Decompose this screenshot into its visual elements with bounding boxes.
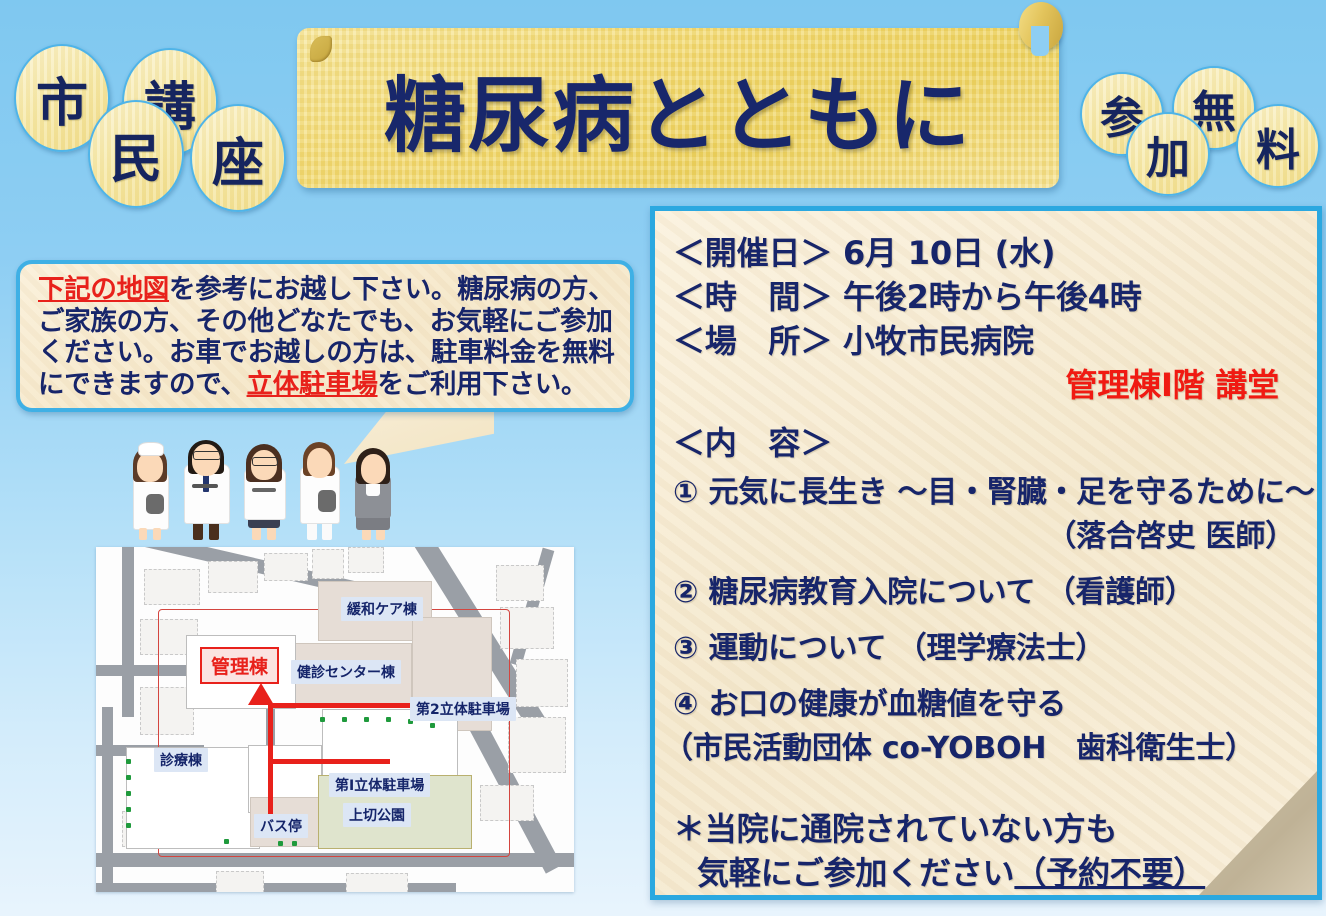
nurse-leg-r (153, 528, 161, 540)
notice-line-4-pre: にできますので、 (38, 369, 247, 400)
woman-head (361, 454, 386, 484)
fdoc-leg-r (267, 526, 276, 540)
map-plot-e1 (516, 659, 568, 707)
info-item-4-speaker: （市民活動団体 co-YOBOH 歯科衛生士） (663, 727, 1317, 771)
info-date-label: ＜開催日＞ (673, 234, 832, 272)
staff-figure-doctor (180, 424, 232, 540)
notice-line-2: ご家族の方、その他どなたでも、お気軽にご参加 (38, 306, 616, 338)
badge-ryo: 料 (1236, 104, 1320, 188)
notice-highlight-parking: 立体駐車場 (247, 369, 378, 400)
map-tree-dot (126, 823, 131, 828)
notice-speech-bubble: 下記の地図を参考にお越し下さい。糖尿病の方、 ご家族の方、その他どなたでも、お気… (16, 260, 634, 412)
nurse-cap-icon (138, 442, 164, 456)
info-content-label: ＜内 容＞ (673, 421, 1317, 465)
map-plot-nw3 (264, 553, 308, 581)
map-plot-e2 (508, 717, 566, 773)
staff-figure-female-doctor (240, 430, 288, 540)
doctor-head (192, 444, 220, 476)
map-tree-dot (292, 841, 297, 846)
map-label-park: 上切公園 (343, 803, 411, 827)
map-tree-dot (126, 759, 131, 764)
badge-za: 座 (190, 104, 286, 212)
info-item-1-speaker: （落合啓史 医師） (673, 515, 1317, 559)
info-date-value: 6月 10日 (水) (843, 234, 1055, 272)
map-plot-n1 (312, 549, 344, 579)
info-time-value: 午後2時から午後4時 (843, 278, 1142, 316)
nurse-leg-l (139, 528, 147, 540)
map-tree-dot (430, 723, 435, 728)
map-road-left-v (122, 547, 134, 717)
map-label-kanri: 管理棟 (200, 647, 279, 684)
info-time-label: ＜時 間＞ (673, 278, 832, 316)
fdoc-glasses-icon (252, 457, 278, 466)
map-tree-dot (320, 717, 325, 722)
nurse-clipboard (146, 494, 164, 514)
fdoc-stethoscope-icon (252, 488, 276, 492)
map-label-shinryo: 診療棟 (154, 748, 208, 772)
map-tree-dot (224, 839, 229, 844)
map-tree-dot (342, 717, 347, 722)
map-tree-dot (126, 775, 131, 780)
notice-line-1: 下記の地図を参考にお越し下さい。糖尿病の方、 (38, 274, 616, 306)
event-info-panel: ＜開催日＞ 6月 10日 (水) ＜時 間＞ 午後2時から午後4時 ＜場 所＞ … (650, 206, 1322, 900)
map-plot-ne1 (496, 565, 544, 601)
map-tree-dot (364, 717, 369, 722)
info-note-line-2-text: 気軽にご参加ください (697, 854, 1014, 892)
map-plot-nw2 (208, 561, 258, 593)
map-tree-dot (126, 807, 131, 812)
info-date-row: ＜開催日＞ 6月 10日 (水) (673, 231, 1317, 275)
info-item-4: ④ お口の健康が血糖値を守る (673, 683, 1317, 727)
map-label-busstop: バス停 (254, 814, 308, 838)
poster-canvas: 糖尿病とともに 市 講 民 座 参 無 加 料 下記の地図を参考にお越し下さい。… (0, 0, 1326, 916)
hospital-location-map[interactable]: 緩和ケア棟 健診センター棟 管理棟 第2立体駐車場 診療棟 第Ⅰ立体駐車場 バス… (96, 547, 574, 892)
map-plot-n2 (348, 547, 384, 573)
mnurse-clipboard (318, 490, 336, 512)
staff-figure-staff-woman (350, 434, 396, 540)
doctor-glasses-icon (193, 451, 221, 460)
info-note-no-reservation: （予約不要） (1014, 854, 1205, 892)
info-place-value: 小牧市民病院 (843, 322, 1034, 360)
map-plot-nw1 (144, 569, 200, 605)
notice-line-4-post: をご利用下さい。 (378, 369, 588, 400)
map-label-kenshin: 健診センター棟 (291, 660, 401, 684)
map-label-parking1: 第Ⅰ立体駐車場 (329, 773, 430, 797)
badge-min: 民 (88, 100, 184, 208)
notice-line-4: にできますので、立体駐車場をご利用下さい。 (38, 369, 616, 401)
info-place-row: ＜場 所＞ 小牧市民病院 (673, 319, 1317, 363)
info-place-detail: 管理棟Ⅰ階 講堂 (673, 363, 1317, 407)
notice-highlight-map: 下記の地図 (38, 274, 169, 305)
map-plot-s1 (216, 871, 264, 892)
map-plot-s2 (346, 873, 408, 892)
medical-staff-illustration (128, 420, 368, 540)
info-place-label: ＜場 所＞ (673, 322, 832, 360)
map-tree-dot (126, 791, 131, 796)
info-time-row: ＜時 間＞ 午後2時から午後4時 (673, 275, 1317, 319)
page-title: 糖尿病とともに (297, 28, 1059, 188)
map-label-parking2: 第2立体駐車場 (410, 697, 516, 721)
staff-figure-nurse (128, 432, 172, 540)
nurse-head (137, 452, 163, 482)
info-note-line-1: ＊当院に通院されていない方も (673, 807, 1317, 851)
doctor-stethoscope-icon (192, 484, 218, 488)
info-item-2: ② 糖尿病教育入院について （看護師） (673, 571, 1317, 615)
info-item-3: ③ 運動について （理学療法士） (673, 627, 1317, 671)
map-route-horizontal-bottom (268, 759, 390, 764)
mnurse-head (307, 448, 332, 478)
map-location-marker-icon (248, 683, 274, 705)
info-item-1: ① 元気に長生き ～目・腎臓・足を守るために～ (673, 471, 1317, 515)
map-label-kanwa: 緩和ケア棟 (341, 597, 423, 621)
notice-line-1-rest: を参考にお越し下さい。糖尿病の方、 (169, 274, 614, 305)
notice-line-3: ください。お車でお越しの方は、駐車料金を無料 (38, 337, 616, 369)
badge-ka: 加 (1126, 112, 1210, 196)
fdoc-leg-l (252, 526, 261, 540)
map-tree-dot (278, 841, 283, 846)
staff-figure-male-nurse (296, 428, 342, 540)
map-tree-dot (386, 717, 391, 722)
